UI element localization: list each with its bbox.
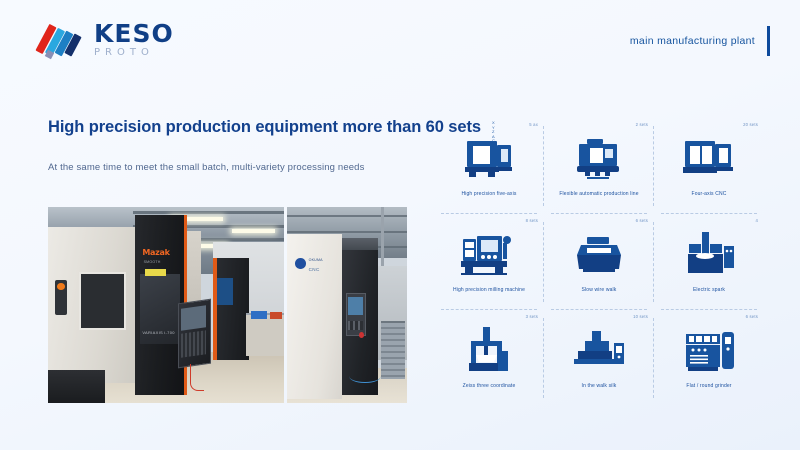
equipment-grid: 5 ax XYZAC High precision five-axis 2 se… [434, 118, 764, 406]
equipment-badge: 8 sets [526, 218, 538, 223]
page-title: High precision production equipment more… [48, 118, 408, 137]
five-axis-machining-center-icon [461, 136, 517, 182]
surface-round-grinder-icon [682, 328, 736, 374]
slow-wire-edm-icon [573, 232, 625, 278]
keso-logo-icon [40, 20, 86, 60]
equipment-badge: 6 sets [636, 218, 648, 223]
equipment-badge: 5 ax [529, 122, 538, 127]
header-accent-bar [767, 26, 770, 56]
equipment-badge: 10 sets [633, 314, 648, 319]
equipment-cell-cmm[interactable]: 3 sets Zeiss three coordinate [434, 310, 544, 406]
equipment-badge: 4 [755, 218, 758, 223]
equipment-caption: Zeiss three coordinate [463, 383, 516, 389]
equipment-badge: 2 sets [636, 122, 648, 127]
cmm-three-coordinate-icon [465, 328, 513, 374]
factory-photo-mazak: Mazak SMOOTH VARIAXIS i-700 [48, 207, 284, 403]
milling-machine-icon [459, 232, 519, 278]
equipment-caption: Flat / round grinder [686, 383, 731, 389]
equipment-cell-slow-wire[interactable]: 6 sets Slow wire walk [544, 214, 654, 310]
equipment-cell-grinder[interactable]: 6 sets [654, 310, 764, 406]
photo-b-brand-sub: CNC [309, 267, 320, 272]
equipment-caption: Four-axis CNC [691, 191, 726, 197]
photo-machine-model: VARIAXIS i-700 [142, 330, 174, 335]
equipment-caption: Flexible automatic production line [559, 191, 638, 197]
equipment-caption: High precision five-axis [461, 191, 516, 197]
page-subtitle: At the same time to meet the small batch… [48, 162, 408, 173]
equipment-badge: 3 sets [526, 314, 538, 319]
header-right: main manufacturing plant [630, 26, 770, 56]
header-label: main manufacturing plant [630, 35, 755, 47]
axis-labels: XYZAC [492, 121, 495, 144]
factory-photo-cell: OKUMA CNC [287, 207, 407, 403]
electric-spark-edm-icon [683, 232, 735, 278]
logo-name: KESO [94, 21, 174, 46]
equipment-badge: 20 sets [743, 122, 758, 127]
photo-strip: Mazak SMOOTH VARIAXIS i-700 [48, 207, 407, 403]
logo-subtitle: PROTO [94, 48, 174, 58]
flexible-production-line-icon [573, 136, 625, 182]
left-text-block: High precision production equipment more… [48, 118, 408, 173]
equipment-caption: Slow wire walk [582, 287, 617, 293]
equipment-cell-electric-spark[interactable]: 4 Electric spark [654, 214, 764, 310]
equipment-cell-five-axis[interactable]: 5 ax XYZAC High precision five-axis [434, 118, 544, 214]
slide-header: KESO PROTO main manufacturing plant [0, 0, 800, 78]
equipment-cell-flexible-line[interactable]: 2 sets Flexible automatic production lin… [544, 118, 654, 214]
four-axis-cnc-icon [681, 136, 737, 182]
equipment-cell-four-axis-cnc[interactable]: 20 sets Four-axis CNC [654, 118, 764, 214]
photo-b-brand: OKUMA [309, 258, 323, 262]
brand-logo[interactable]: KESO PROTO [40, 20, 174, 60]
photo-brand-sub: SMOOTH [144, 260, 161, 264]
equipment-caption: High precision milling machine [453, 287, 525, 293]
medium-wire-edm-icon [572, 328, 626, 374]
equipment-caption: In the walk silk [582, 383, 617, 389]
logo-text: KESO PROTO [94, 21, 174, 60]
photo-brand-mazak: Mazak [142, 248, 169, 257]
slide: KESO PROTO main manufacturing plant High… [0, 0, 800, 450]
equipment-cell-medium-wire[interactable]: 10 sets In the walk silk [544, 310, 654, 406]
equipment-caption: Electric spark [693, 287, 725, 293]
equipment-cell-milling-machine[interactable]: 8 sets H [434, 214, 544, 310]
equipment-badge: 6 sets [746, 314, 758, 319]
